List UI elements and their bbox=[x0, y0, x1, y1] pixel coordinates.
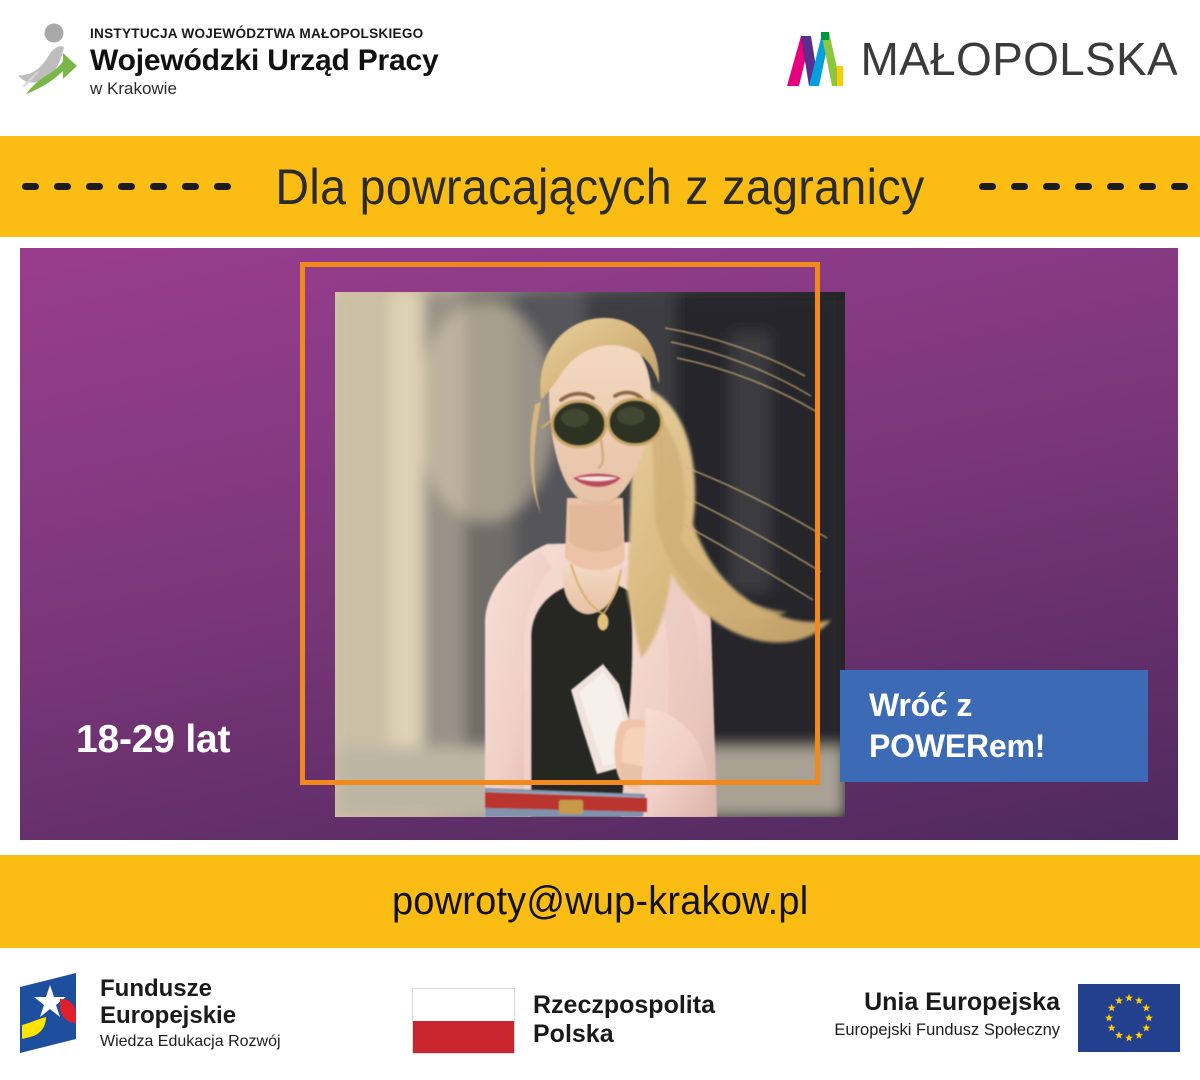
malopolska-logo: MAŁOPOLSKA bbox=[785, 28, 1178, 90]
hero-panel: 18-29 lat Wróć z POWERem! bbox=[20, 248, 1178, 840]
dash bbox=[182, 183, 199, 190]
unia-line-1: Unia Europejska bbox=[834, 988, 1060, 1017]
wup-name-line: Wojewódzki Urząd Pracy bbox=[90, 44, 438, 78]
polish-flag-icon bbox=[412, 988, 515, 1054]
page-footer: Fundusze Europejskie Wiedza Edukacja Roz… bbox=[0, 948, 1200, 1080]
eu-flag-12-stars-icon bbox=[1078, 984, 1180, 1052]
fundusze-europejskie-logo: Fundusze Europejskie Wiedza Edukacja Roz… bbox=[20, 973, 281, 1053]
fundusze-europejskie-text: Fundusze Europejskie Wiedza Edukacja Roz… bbox=[100, 975, 281, 1052]
email-banner: powroty@wup-krakow.pl bbox=[0, 855, 1200, 948]
unia-europejska-logo: Unia Europejska Europejski Fundusz Społe… bbox=[834, 984, 1180, 1052]
dash bbox=[54, 183, 71, 190]
age-badge: 18-29 lat bbox=[76, 718, 230, 762]
dashes-right-decoration bbox=[979, 183, 1188, 190]
dash bbox=[86, 183, 103, 190]
dash bbox=[1011, 183, 1028, 190]
malopolska-wordmark: MAŁOPOLSKA bbox=[861, 36, 1178, 82]
fundusze-line-1: Fundusze bbox=[100, 975, 281, 1002]
malopolska-m-mark-icon bbox=[785, 28, 847, 90]
fundusze-line-3: Wiedza Edukacja Rozwój bbox=[100, 1032, 281, 1051]
power-line-2: POWERem! bbox=[869, 726, 1148, 767]
wup-person-arrow-logo-icon bbox=[16, 20, 80, 106]
fundusze-europejskie-flag-star-icon bbox=[20, 973, 86, 1053]
page-header: INSTYTUCJA WOJEWÓDZTWA MAŁOPOLSKIEGO Woj… bbox=[0, 0, 1200, 136]
contact-email[interactable]: powroty@wup-krakow.pl bbox=[392, 879, 808, 924]
dash bbox=[1043, 183, 1060, 190]
dash bbox=[979, 183, 996, 190]
wup-logo: INSTYTUCJA WOJEWÓDZTWA MAŁOPOLSKIEGO Woj… bbox=[16, 20, 438, 106]
power-callout-box: Wróć z POWERem! bbox=[840, 670, 1148, 782]
wup-city-line: w Krakowie bbox=[90, 80, 438, 99]
rzeczpospolita-polska-logo: Rzeczpospolita Polska bbox=[412, 988, 715, 1054]
flag-white-stripe bbox=[413, 989, 514, 1021]
page-title: Dla powracających z zagranicy bbox=[275, 158, 924, 216]
rzeczpospolita-line-1: Rzeczpospolita bbox=[533, 991, 715, 1020]
dashes-left-decoration bbox=[22, 183, 231, 190]
dash bbox=[1139, 183, 1156, 190]
dash bbox=[1107, 183, 1124, 190]
dash bbox=[1171, 183, 1188, 190]
rzeczpospolita-line-2: Polska bbox=[533, 1020, 715, 1049]
rzeczpospolita-text: Rzeczpospolita Polska bbox=[533, 988, 715, 1049]
unia-europejska-text: Unia Europejska Europejski Fundusz Społe… bbox=[834, 984, 1060, 1041]
dash bbox=[1075, 183, 1092, 190]
unia-line-2: Europejski Fundusz Społeczny bbox=[834, 1021, 1060, 1041]
hero-photo bbox=[335, 292, 845, 817]
dash bbox=[150, 183, 167, 190]
power-line-1: Wróć z bbox=[869, 685, 1148, 726]
title-banner: Dla powracających z zagranicy bbox=[0, 136, 1200, 237]
dash bbox=[22, 183, 39, 190]
dash bbox=[214, 183, 231, 190]
dash bbox=[118, 183, 135, 190]
wup-institution-line: INSTYTUCJA WOJEWÓDZTWA MAŁOPOLSKIEGO bbox=[90, 27, 438, 42]
flag-red-stripe bbox=[413, 1021, 514, 1053]
fundusze-line-2: Europejskie bbox=[100, 1002, 281, 1029]
wup-logo-text: INSTYTUCJA WOJEWÓDZTWA MAŁOPOLSKIEGO Woj… bbox=[90, 27, 438, 99]
